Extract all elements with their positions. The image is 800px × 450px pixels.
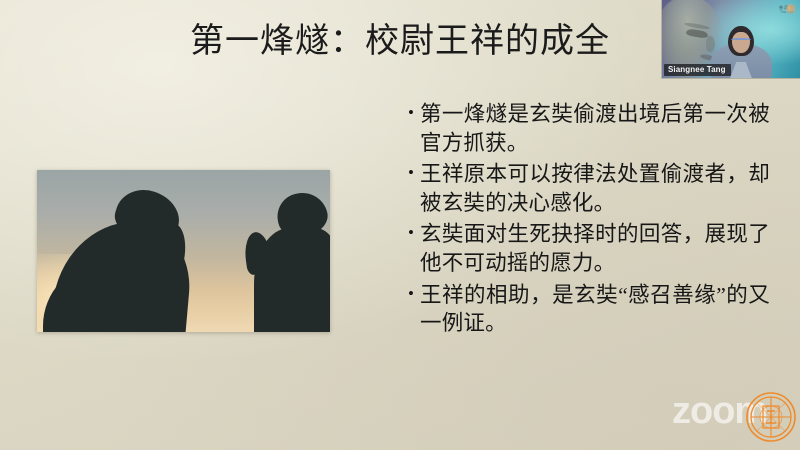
webcam-overlay[interactable]: 慈濟會 Tzu Chi Siangnee Tang bbox=[662, 0, 800, 78]
slide-bullet-list: • 第一烽燧是玄奘偷渡出境后第一次被官方抓获。 • 王祥原本可以按律法处置偷渡者… bbox=[402, 100, 770, 341]
bullet-text: 玄奘面对生死抉择时的回答，展现了他不可动摇的愿力。 bbox=[420, 220, 770, 277]
bullet-text: 王祥的相助，是玄奘“感召善缘”的又一例证。 bbox=[420, 281, 770, 338]
presentation-slide: 第一烽燧：校尉王祥的成全 • 第一烽燧是玄奘偷渡出境后第一次被官方抓获。 • 王… bbox=[0, 0, 800, 450]
bullet-text: 王祥原本可以按律法处置偷渡者，却被玄奘的决心感化。 bbox=[420, 160, 770, 217]
slide-image bbox=[37, 170, 330, 332]
organization-logo: 慈濟會 Tzu Chi bbox=[779, 6, 794, 14]
bullet-marker-icon: • bbox=[402, 100, 420, 126]
bullet-item: • 第一烽燧是玄奘偷渡出境后第一次被官方抓获。 bbox=[402, 100, 770, 157]
glasses-icon bbox=[731, 38, 751, 43]
logo-mark-icon bbox=[786, 4, 796, 14]
buddha-nose bbox=[706, 36, 715, 52]
bullet-text: 第一烽燧是玄奘偷渡出境后第一次被官方抓获。 bbox=[420, 100, 770, 157]
bullet-marker-icon: • bbox=[402, 281, 420, 307]
participant-name-label: Siangnee Tang bbox=[664, 64, 731, 76]
bullet-item: • 王祥原本可以按律法处置偷渡者，却被玄奘的决心感化。 bbox=[402, 160, 770, 217]
bullet-item: • 玄奘面对生死抉择时的回答，展现了他不可动摇的愿力。 bbox=[402, 220, 770, 277]
bullet-marker-icon: • bbox=[402, 160, 420, 186]
orange-seal-icon bbox=[745, 391, 797, 443]
bullet-item: • 王祥的相助，是玄奘“感召善缘”的又一例证。 bbox=[402, 281, 770, 338]
bullet-marker-icon: • bbox=[402, 220, 420, 246]
